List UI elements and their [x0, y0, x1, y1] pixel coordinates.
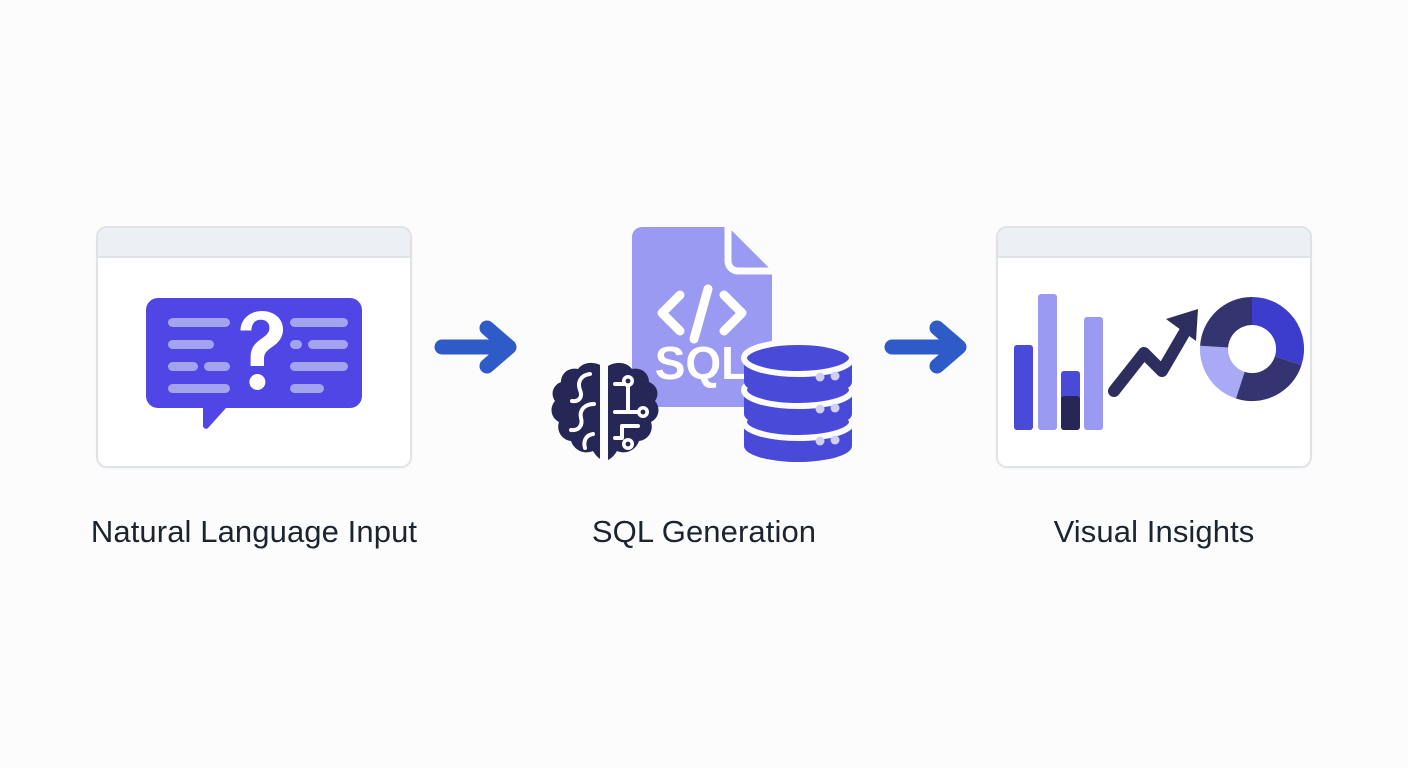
- sql-generation-composition: SQL: [544, 222, 864, 472]
- window-body-insights: [998, 258, 1310, 466]
- bar-3-lower: [1061, 396, 1080, 430]
- arrow-right-icon: [433, 319, 525, 375]
- bar-1: [1014, 345, 1033, 430]
- stage-visual-insights-visual: [994, 222, 1314, 472]
- donut-segment-b: [1236, 356, 1302, 401]
- donut-segment-d: [1200, 297, 1252, 348]
- stage-visual-insights: Visual Insights: [994, 222, 1314, 547]
- bar-chart-icon: [1012, 292, 1102, 432]
- sql-document-text: SQL: [655, 337, 750, 389]
- bar-4: [1084, 317, 1103, 430]
- stage-natural-language-input: Natural Language Input: [94, 222, 414, 547]
- trend-up-line-icon: [1108, 305, 1204, 399]
- donut-segment-c: [1200, 345, 1245, 398]
- arrow-connector-1: [414, 222, 544, 472]
- dashboard-charts-row: [1004, 287, 1304, 437]
- ai-brain-holder: [550, 360, 660, 464]
- donut-chart-icon: [1200, 293, 1304, 417]
- diagram-canvas: Natural Language Input: [0, 0, 1408, 768]
- stage-label-sql-generation: SQL Generation: [592, 516, 816, 547]
- window-titlebar-input: [98, 228, 410, 258]
- stage-visual-input: [94, 222, 414, 472]
- stage-label-visual-insights: Visual Insights: [1054, 516, 1255, 547]
- browser-window-insights: [996, 226, 1312, 468]
- donut-chart-holder: [1200, 293, 1304, 417]
- ai-brain-icon: [550, 360, 660, 464]
- stage-label-natural-language-input: Natural Language Input: [91, 516, 417, 547]
- database-cylinder-icon: [740, 334, 856, 470]
- bar-2: [1038, 294, 1057, 430]
- stage-sql-generation: SQL: [544, 222, 864, 547]
- stage-visual-generation: SQL: [544, 222, 864, 472]
- window-body-input: [98, 258, 410, 466]
- trend-line-holder: [1108, 305, 1204, 399]
- database-holder: [740, 334, 856, 470]
- speech-bubble-question-icon: [144, 292, 364, 432]
- pipeline-flow: Natural Language Input: [0, 0, 1408, 768]
- arrow-right-icon: [883, 319, 975, 375]
- arrow-connector-2: [864, 222, 994, 472]
- window-titlebar-insights: [998, 228, 1310, 258]
- donut-segment-a: [1252, 296, 1304, 364]
- browser-window-input: [96, 226, 412, 468]
- bar-chart-holder: [1012, 292, 1102, 432]
